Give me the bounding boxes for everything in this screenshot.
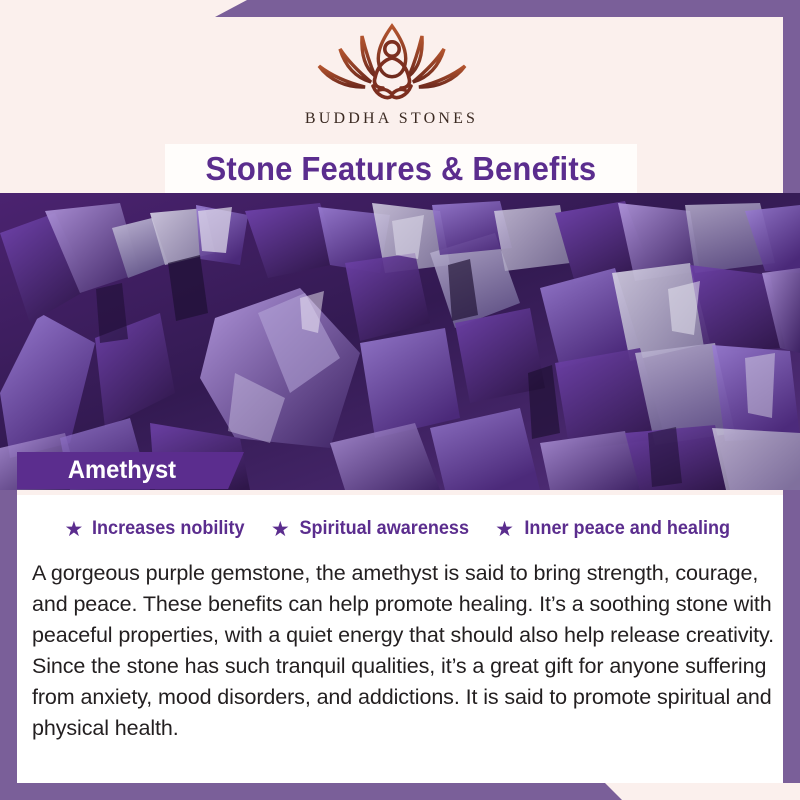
frame-bottom-left-accent [0, 783, 622, 800]
star-icon: ★ [495, 519, 514, 540]
page-title-banner: Stone Features & Benefits [165, 144, 637, 193]
stone-name-band: Amethyst [17, 452, 244, 489]
stone-description: A gorgeous purple gemstone, the amethyst… [32, 558, 780, 744]
stone-name: Amethyst [68, 456, 176, 485]
brand-logo-block: BUDDHA STONES [0, 18, 783, 128]
benefit-item-3: ★ Inner peace and healing [495, 518, 735, 540]
benefit-item-1: ★ Increases nobility [65, 518, 249, 540]
amethyst-crystal-cluster-graphic [0, 193, 800, 490]
star-icon: ★ [271, 519, 290, 540]
amethyst-photo [0, 193, 800, 490]
benefit-label-1: Increases nobility [92, 518, 244, 540]
brand-wordmark: BUDDHA STONES [0, 110, 783, 128]
page-title: Stone Features & Benefits [206, 150, 597, 188]
benefit-label-3: Inner peace and healing [524, 518, 730, 540]
benefit-item-2: ★ Spiritual awareness [271, 518, 473, 540]
lotus-meditation-icon [307, 18, 477, 108]
benefits-row: ★ Increases nobility ★ Spiritual awarene… [28, 518, 772, 540]
frame-top-right-accent [215, 0, 800, 17]
frame-left-accent [0, 490, 17, 783]
stone-info-card: BUDDHA STONES Stone Features & Benefits [0, 0, 800, 800]
star-icon: ★ [65, 519, 84, 540]
benefit-label-2: Spiritual awareness [299, 518, 469, 540]
